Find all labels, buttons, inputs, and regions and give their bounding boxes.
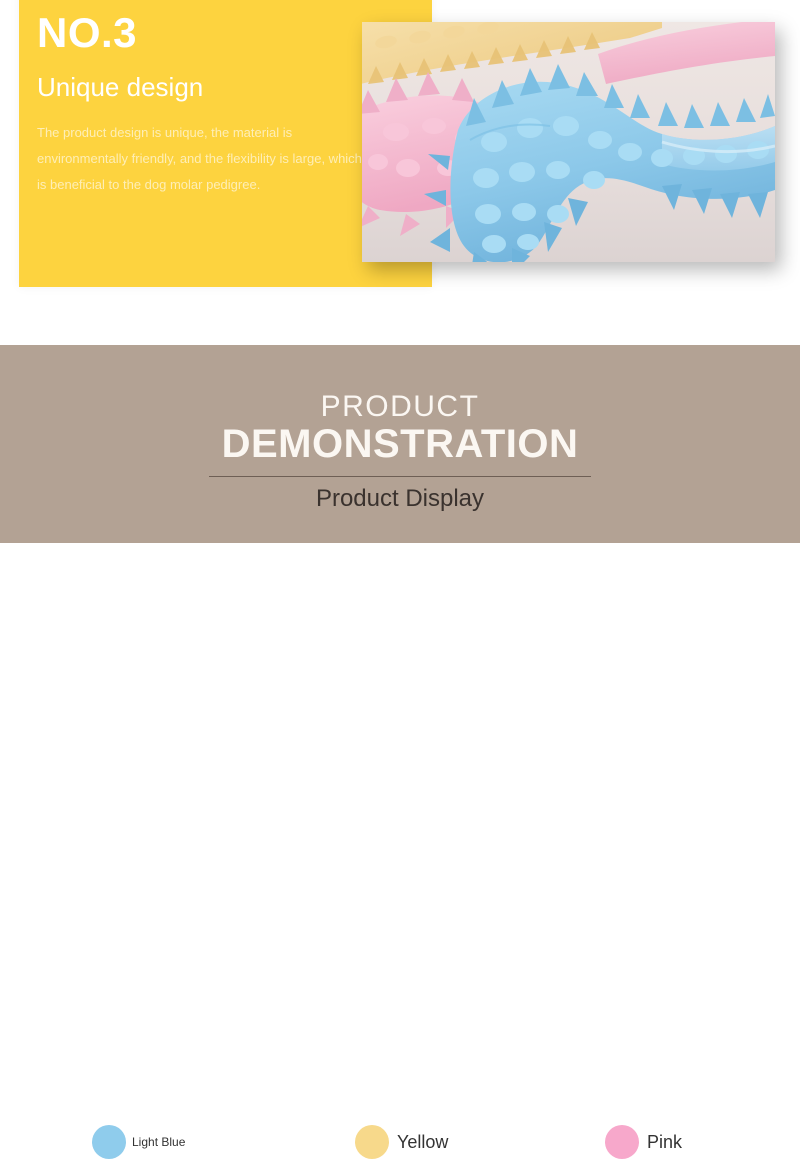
- swatch-label: Pink: [647, 1132, 682, 1153]
- feature-subtitle: Unique design: [37, 74, 203, 100]
- feature-section: NO.3 Unique design The product design is…: [0, 0, 800, 345]
- demonstration-banner: PRODUCT DEMONSTRATION Product Display: [0, 345, 800, 543]
- banner-caption: Product Display: [0, 477, 800, 514]
- swatch-light-blue[interactable]: Light Blue: [92, 1125, 185, 1159]
- color-legend: Light Blue Yellow Pink: [0, 543, 800, 655]
- swatch-label: Light Blue: [132, 1135, 185, 1149]
- color-dot-icon: [355, 1125, 389, 1159]
- feature-number: NO.3: [37, 12, 137, 54]
- banner-kicker: PRODUCT: [0, 345, 800, 423]
- product-photo-illustration: [362, 22, 775, 262]
- color-dot-icon: [92, 1125, 126, 1159]
- color-dot-icon: [605, 1125, 639, 1159]
- swatch-pink[interactable]: Pink: [605, 1125, 682, 1159]
- swatch-yellow[interactable]: Yellow: [355, 1125, 448, 1159]
- product-photo: [362, 22, 775, 262]
- banner-title: DEMONSTRATION: [0, 423, 800, 466]
- swatch-label: Yellow: [397, 1132, 448, 1153]
- feature-description: The product design is unique, the materi…: [37, 120, 367, 198]
